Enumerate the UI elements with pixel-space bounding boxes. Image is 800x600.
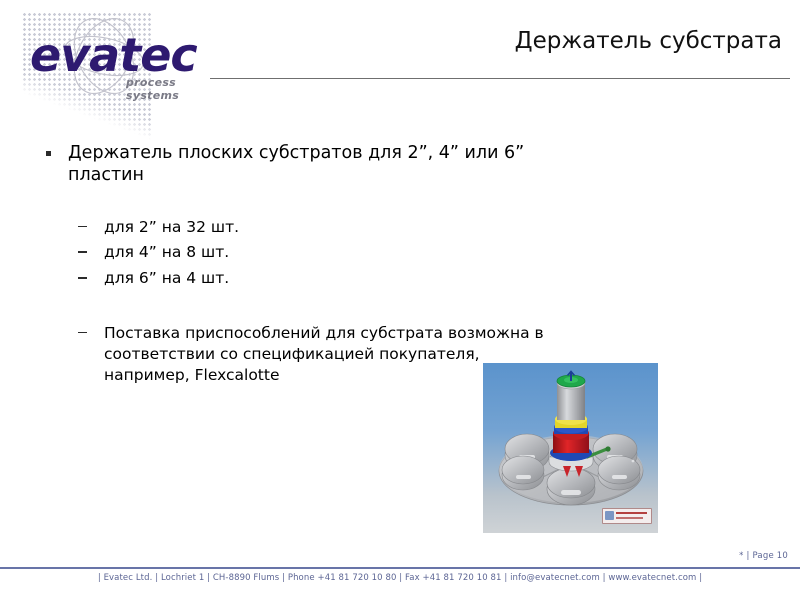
bullet-main-label: Держатель плоских субстратов для 2”, 4” … [68,143,524,185]
list-item: для 2” на 32 шт. [76,217,604,238]
substrate-holder-image [483,363,658,533]
footer-divider [0,567,800,569]
page-title: Держатель субстрата [400,28,782,54]
watermark-line [616,517,643,519]
footer-contact: | Evatec Ltd. | Lochriet 1 | CH-8890 Flu… [0,573,800,583]
square-bullet-icon [46,151,51,156]
sub-bullet-list: для 2” на 32 шт. для 4” на 8 шт. для 6” … [76,217,604,387]
paragraph-label: Поставка приспособлений для субстрата во… [104,324,544,385]
list-item-label: для 6” на 4 шт. [104,269,229,287]
watermark-line [616,512,647,514]
slide-content: Держатель плоских субстратов для 2”, 4” … [44,143,604,392]
image-watermark [602,508,652,524]
bullet-main: Держатель плоских субстратов для 2”, 4” … [44,143,604,187]
dash-bullet-icon [78,226,87,228]
logo-wordmark: evatec [30,32,197,78]
list-item: для 6” на 4 шт. [76,268,604,289]
evatec-logo: evatec process systems [18,18,228,100]
dash-bullet-icon [78,277,87,279]
list-item-label: для 4” на 8 шт. [104,243,229,261]
list-item: для 4” на 8 шт. [76,242,604,263]
page-number: * | Page 10 [739,551,788,561]
title-divider [210,78,790,79]
list-item-label: для 2” на 32 шт. [104,218,239,236]
watermark-icon [605,511,614,520]
logo-tagline: process systems [126,76,228,102]
dash-bullet-icon [78,332,87,334]
dash-bullet-icon [78,251,87,253]
